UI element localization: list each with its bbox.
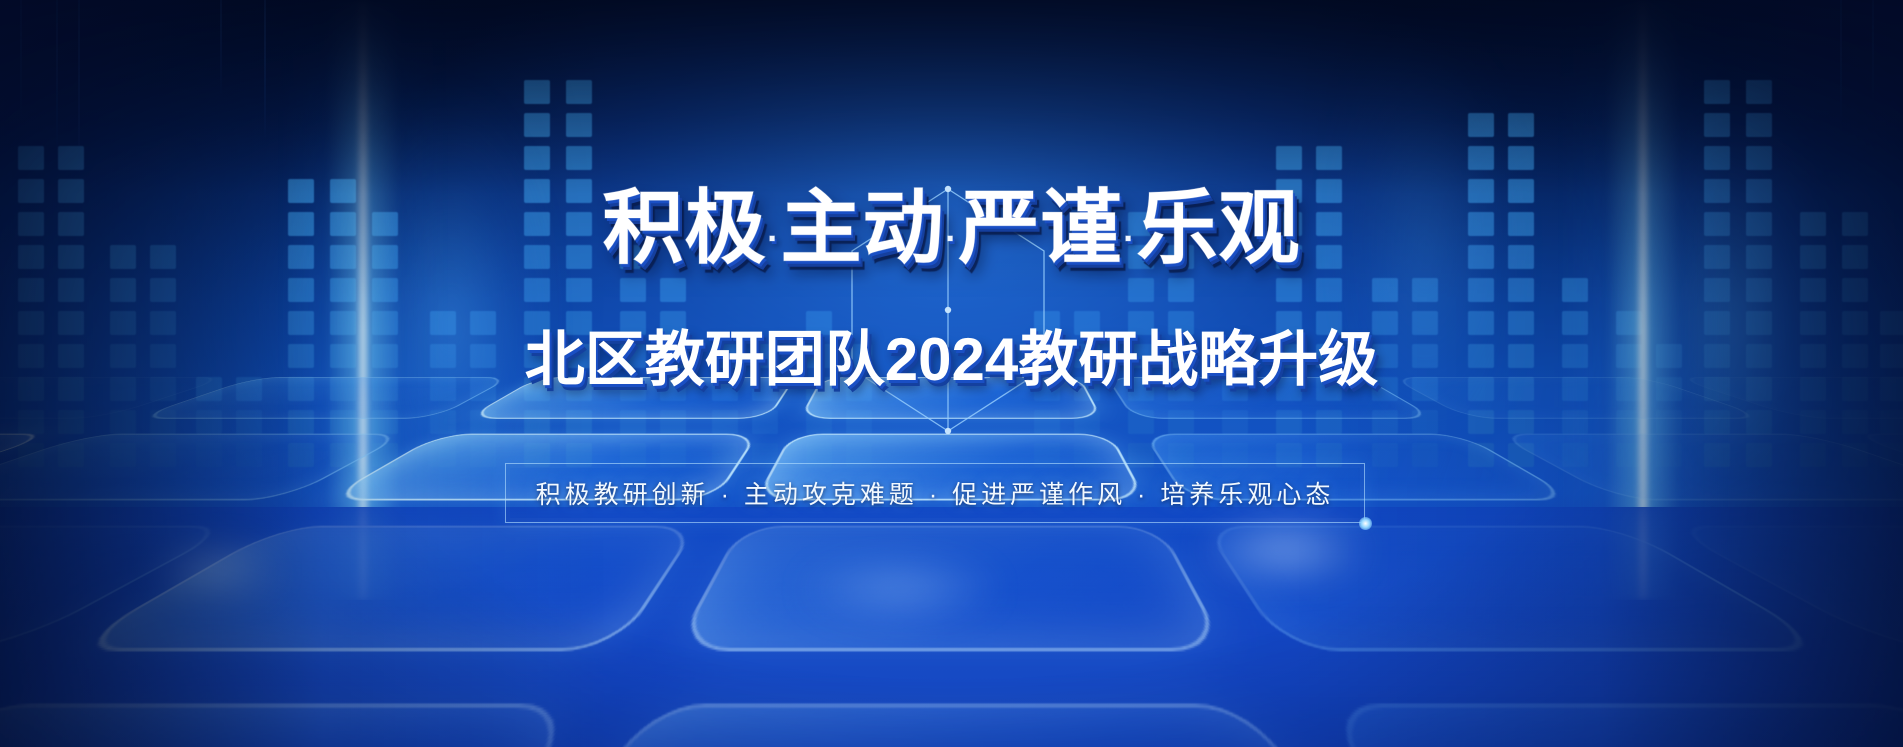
title-separator: ·	[1123, 222, 1137, 256]
banner-content: 积极·主动·严谨·乐观 北区教研团队2024教研战略升级 积极教研创新 · 主动…	[0, 0, 1903, 747]
title-word-1: 积极	[602, 184, 766, 274]
title-separator: ·	[766, 222, 780, 256]
banner-title: 积极·主动·严谨·乐观	[0, 189, 1903, 270]
title-word-4: 乐观	[1137, 184, 1301, 274]
event-banner: 积极·主动·严谨·乐观 北区教研团队2024教研战略升级 积极教研创新 · 主动…	[0, 0, 1903, 747]
title-separator: ·	[945, 222, 959, 256]
banner-subtitle: 北区教研团队2024教研战略升级	[0, 330, 1903, 390]
tagline-text: 积极教研创新 · 主动攻克难题 · 促进严谨作风 · 培养乐观心态	[536, 475, 1335, 511]
tagline-box: 积极教研创新 · 主动攻克难题 · 促进严谨作风 · 培养乐观心态	[505, 463, 1365, 523]
tagbox-corner-dot-icon	[1359, 517, 1372, 530]
title-word-3: 严谨	[959, 184, 1123, 274]
title-word-2: 主动	[780, 184, 944, 274]
